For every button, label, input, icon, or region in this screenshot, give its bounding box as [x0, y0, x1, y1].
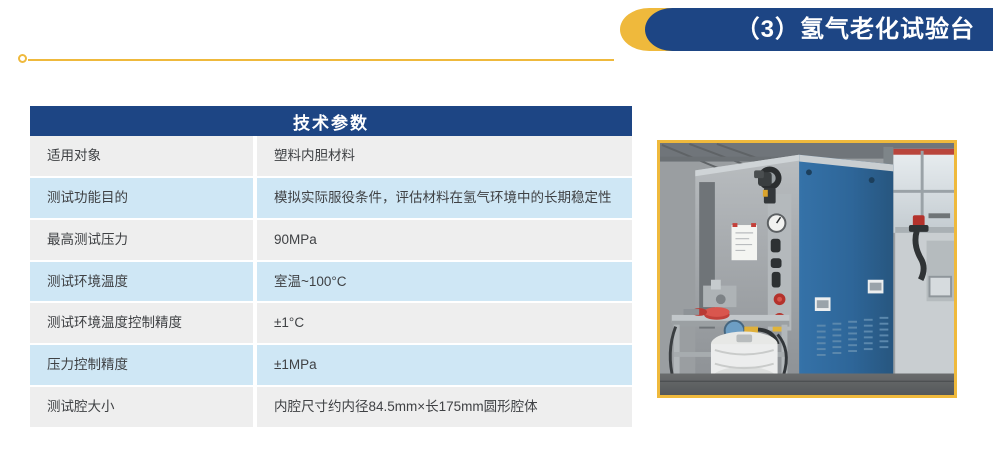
- spec-key: 压力控制精度: [30, 345, 257, 387]
- spec-value: 塑料内胆材料: [257, 136, 632, 178]
- spec-value: 90MPa: [257, 220, 632, 262]
- tech-spec-table: 技术参数 适用对象塑料内胆材料测试功能目的模拟实际服役条件，评估材料在氢气环境中…: [30, 106, 632, 429]
- circle-outline-icon: [18, 54, 27, 63]
- hydrogen-aging-test-rig-photo: [657, 140, 957, 398]
- spec-key: 测试腔大小: [30, 387, 257, 429]
- table-row: 测试环境温度控制精度±1°C: [30, 303, 632, 345]
- spec-table-title: 技术参数: [30, 106, 632, 136]
- table-row: 测试功能目的模拟实际服役条件，评估材料在氢气环境中的长期稳定性: [30, 178, 632, 220]
- spec-key: 测试环境温度控制精度: [30, 303, 257, 345]
- spec-table-body: 适用对象塑料内胆材料测试功能目的模拟实际服役条件，评估材料在氢气环境中的长期稳定…: [30, 136, 632, 429]
- section-title-banner: （3）氢气老化试验台: [620, 8, 993, 51]
- header-decorative-rule: [18, 54, 614, 66]
- spec-value: 内腔尺寸约内径84.5mm×长175mm圆形腔体: [257, 387, 632, 429]
- spec-value: 模拟实际服役条件，评估材料在氢气环境中的长期稳定性: [257, 178, 632, 220]
- section-title-text: （3）氢气老化试验台: [736, 8, 975, 51]
- spec-table-head: 技术参数: [30, 106, 632, 136]
- spec-key: 测试功能目的: [30, 178, 257, 220]
- spec-value: ±1°C: [257, 303, 632, 345]
- spec-key: 适用对象: [30, 136, 257, 178]
- table-row: 测试环境温度室温~100°C: [30, 262, 632, 304]
- table-row: 测试腔大小内腔尺寸约内径84.5mm×长175mm圆形腔体: [30, 387, 632, 429]
- spec-key: 测试环境温度: [30, 262, 257, 304]
- spec-key: 最高测试压力: [30, 220, 257, 262]
- table-row: 适用对象塑料内胆材料: [30, 136, 632, 178]
- rule-line: [28, 59, 614, 61]
- spec-table-header-row: 技术参数: [30, 106, 632, 136]
- spec-value: 室温~100°C: [257, 262, 632, 304]
- spec-value: ±1MPa: [257, 345, 632, 387]
- table-row: 最高测试压力90MPa: [30, 220, 632, 262]
- table-row: 压力控制精度±1MPa: [30, 345, 632, 387]
